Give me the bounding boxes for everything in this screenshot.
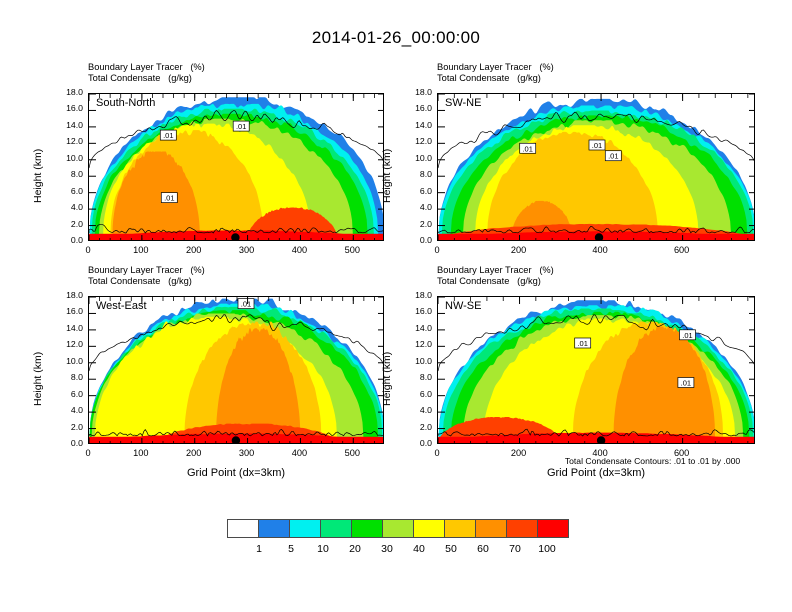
svg-text:.01: .01 bbox=[682, 331, 692, 340]
y-tick-label: 16.0 bbox=[401, 306, 432, 316]
header-tracer-line: Boundary Layer Tracer (%) bbox=[88, 62, 205, 73]
x-tick-label: 200 bbox=[497, 448, 541, 458]
panel-label-south-north: South-North bbox=[96, 97, 155, 109]
colorbar-labels: 1510203040506070100 bbox=[227, 543, 579, 559]
header-condensate-line: Total Condensate (g/kg) bbox=[437, 73, 554, 84]
y-tick-label: 4.0 bbox=[52, 202, 83, 212]
y-tick-label: 10.0 bbox=[401, 153, 432, 163]
y-tick-label: 8.0 bbox=[52, 372, 83, 382]
y-tick-label: 14.0 bbox=[401, 323, 432, 333]
svg-text:.01: .01 bbox=[236, 122, 246, 131]
header-condensate-line: Total Condensate (g/kg) bbox=[88, 73, 205, 84]
x-tick-label: 0 bbox=[66, 448, 110, 458]
contour-label-3: .01 bbox=[161, 193, 177, 203]
x-tick-label: 0 bbox=[66, 245, 110, 255]
colorbar-cell-2 bbox=[289, 519, 321, 538]
colorbar-strip bbox=[227, 519, 569, 538]
y-tick-label: 16.0 bbox=[52, 306, 83, 316]
contour-field-sw-ne: .01.01.01 bbox=[438, 94, 755, 241]
colorbar-cell-4 bbox=[351, 519, 383, 538]
y-tick-label: 0.0 bbox=[401, 438, 432, 448]
y-tick-label: 6.0 bbox=[52, 186, 83, 196]
colorbar-tick-label: 70 bbox=[509, 543, 521, 555]
svg-text:.01: .01 bbox=[592, 141, 602, 150]
colorbar-cell-1 bbox=[258, 519, 290, 538]
colorbar-cell-3 bbox=[320, 519, 352, 538]
y-axis-label: Height (km) bbox=[32, 149, 44, 203]
plot-area-south-north[interactable]: .01.01.01 bbox=[88, 93, 384, 241]
header-tracer-line: Boundary Layer Tracer (%) bbox=[437, 62, 554, 73]
contour-label-1: .01 bbox=[160, 130, 176, 140]
y-tick-label: 2.0 bbox=[401, 422, 432, 432]
panel-label-west-east: West-East bbox=[96, 300, 147, 312]
contour-label-3: .01 bbox=[605, 151, 621, 161]
colorbar-tick-label: 60 bbox=[477, 543, 489, 555]
plot-area-sw-ne[interactable]: .01.01.01 bbox=[437, 93, 755, 241]
y-tick-label: 18.0 bbox=[52, 87, 83, 97]
x-tick-label: 500 bbox=[330, 448, 374, 458]
y-tick-label: 10.0 bbox=[401, 356, 432, 366]
panel-header-sw-ne: Boundary Layer Tracer (%)Total Condensat… bbox=[437, 62, 554, 85]
y-tick-label: 0.0 bbox=[52, 235, 83, 245]
y-tick-label: 8.0 bbox=[401, 169, 432, 179]
contour-label-1: .01 bbox=[238, 299, 254, 309]
y-tick-label: 14.0 bbox=[52, 120, 83, 130]
svg-text:.01: .01 bbox=[164, 194, 174, 203]
contour-field-south-north: .01.01.01 bbox=[89, 94, 384, 241]
panel-header-west-east: Boundary Layer Tracer (%)Total Condensat… bbox=[88, 265, 205, 288]
y-axis-label: Height (km) bbox=[32, 352, 44, 406]
x-tick-label: 600 bbox=[660, 245, 704, 255]
panel-header-south-north: Boundary Layer Tracer (%)Total Condensat… bbox=[88, 62, 205, 85]
colorbar-tick-label: 20 bbox=[349, 543, 361, 555]
svg-text:.01: .01 bbox=[681, 379, 691, 388]
header-condensate-line: Total Condensate (g/kg) bbox=[437, 276, 554, 287]
y-tick-label: 8.0 bbox=[401, 372, 432, 382]
y-tick-label: 12.0 bbox=[401, 339, 432, 349]
colorbar-tick-label: 5 bbox=[288, 543, 294, 555]
contour-label-2: .01 bbox=[680, 330, 696, 340]
plot-area-west-east[interactable]: .01 bbox=[88, 296, 384, 444]
contour-note: Total Condensate Contours: .01 to .01 by… bbox=[545, 456, 760, 466]
x-tick-label: 400 bbox=[277, 448, 321, 458]
colorbar-tick-label: 1 bbox=[256, 543, 262, 555]
colorbar-cell-8 bbox=[475, 519, 507, 538]
x-tick-label: 400 bbox=[578, 245, 622, 255]
y-tick-label: 12.0 bbox=[52, 136, 83, 146]
colorbar-tick-label: 40 bbox=[413, 543, 425, 555]
y-tick-label: 4.0 bbox=[52, 405, 83, 415]
y-tick-label: 2.0 bbox=[52, 422, 83, 432]
x-axis-label: Grid Point (dx=3km) bbox=[88, 467, 384, 479]
y-tick-label: 16.0 bbox=[52, 103, 83, 113]
y-tick-label: 18.0 bbox=[401, 290, 432, 300]
header-tracer-line: Boundary Layer Tracer (%) bbox=[88, 265, 205, 276]
contour-label-2: .01 bbox=[233, 121, 249, 131]
surface-saturated-layer bbox=[438, 437, 755, 444]
y-tick-label: 18.0 bbox=[401, 87, 432, 97]
colorbar-cell-7 bbox=[444, 519, 476, 538]
contour-field-nw-se: .01.01.01 bbox=[438, 297, 755, 444]
x-tick-label: 100 bbox=[119, 448, 163, 458]
svg-text:.01: .01 bbox=[608, 152, 618, 161]
colorbar-cell-9 bbox=[506, 519, 538, 538]
x-tick-label: 500 bbox=[330, 245, 374, 255]
x-axis-label: Grid Point (dx=3km) bbox=[437, 467, 755, 479]
colorbar-tick-label: 30 bbox=[381, 543, 393, 555]
header-tracer-line: Boundary Layer Tracer (%) bbox=[437, 265, 554, 276]
y-tick-label: 14.0 bbox=[52, 323, 83, 333]
y-tick-label: 0.0 bbox=[401, 235, 432, 245]
y-tick-label: 4.0 bbox=[401, 202, 432, 212]
y-tick-label: 6.0 bbox=[401, 389, 432, 399]
colorbar-tick-label: 10 bbox=[317, 543, 329, 555]
x-tick-label: 0 bbox=[415, 448, 459, 458]
colorbar-cell-6 bbox=[413, 519, 445, 538]
y-tick-label: 6.0 bbox=[52, 389, 83, 399]
x-tick-label: 0 bbox=[415, 245, 459, 255]
svg-text:.01: .01 bbox=[577, 339, 587, 348]
y-tick-label: 16.0 bbox=[401, 103, 432, 113]
contour-label-2: .01 bbox=[589, 140, 605, 150]
colorbar-cell-0 bbox=[227, 519, 259, 538]
y-tick-label: 10.0 bbox=[52, 356, 83, 366]
y-axis-label: Height (km) bbox=[381, 149, 393, 203]
y-tick-label: 12.0 bbox=[401, 136, 432, 146]
y-tick-label: 6.0 bbox=[401, 186, 432, 196]
svg-text:.01: .01 bbox=[163, 131, 173, 140]
colorbar-tick-label: 100 bbox=[538, 543, 556, 555]
svg-text:.01: .01 bbox=[522, 144, 532, 153]
contour-field-west-east: .01 bbox=[89, 297, 384, 444]
y-tick-label: 8.0 bbox=[52, 169, 83, 179]
figure-title: 2014-01-26_00:00:00 bbox=[0, 28, 792, 48]
svg-text:.01: .01 bbox=[241, 300, 251, 309]
y-tick-label: 0.0 bbox=[52, 438, 83, 448]
y-tick-label: 14.0 bbox=[401, 120, 432, 130]
x-tick-label: 200 bbox=[172, 245, 216, 255]
figure-root: 2014-01-26_00:00:00 Boundary Layer Trace… bbox=[0, 0, 792, 612]
colorbar-cell-10 bbox=[537, 519, 569, 538]
y-tick-label: 10.0 bbox=[52, 153, 83, 163]
y-tick-label: 18.0 bbox=[52, 290, 83, 300]
panel-label-nw-se: NW-SE bbox=[445, 300, 481, 312]
y-tick-label: 2.0 bbox=[52, 219, 83, 229]
x-tick-label: 400 bbox=[277, 245, 321, 255]
contour-label-1: .01 bbox=[575, 338, 591, 348]
contour-label-3: .01 bbox=[678, 378, 694, 388]
x-tick-label: 200 bbox=[497, 245, 541, 255]
panel-header-nw-se: Boundary Layer Tracer (%)Total Condensat… bbox=[437, 265, 554, 288]
x-tick-label: 200 bbox=[172, 448, 216, 458]
x-tick-label: 300 bbox=[225, 245, 269, 255]
colorbar-cell-5 bbox=[382, 519, 414, 538]
colorbar-tick-label: 50 bbox=[445, 543, 457, 555]
plot-area-nw-se[interactable]: .01.01.01 bbox=[437, 296, 755, 444]
contour-label-1: .01 bbox=[520, 143, 536, 153]
y-tick-label: 4.0 bbox=[401, 405, 432, 415]
y-tick-label: 12.0 bbox=[52, 339, 83, 349]
y-axis-label: Height (km) bbox=[381, 352, 393, 406]
panel-label-sw-ne: SW-NE bbox=[445, 97, 481, 109]
x-tick-label: 100 bbox=[119, 245, 163, 255]
x-tick-label: 300 bbox=[225, 448, 269, 458]
header-condensate-line: Total Condensate (g/kg) bbox=[88, 276, 205, 287]
y-tick-label: 2.0 bbox=[401, 219, 432, 229]
